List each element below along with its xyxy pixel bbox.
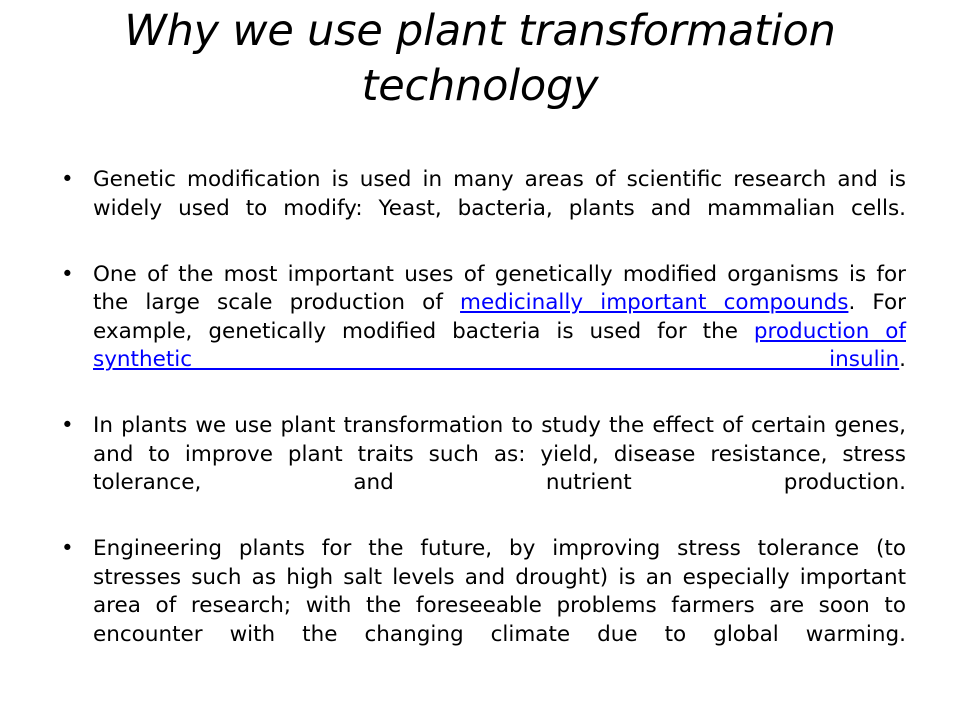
bullet-point-icon: • <box>61 261 79 290</box>
presentation-slide: Why we use plant transformation technolo… <box>0 0 960 720</box>
bullet-point-icon: • <box>61 412 79 441</box>
bullet-text-genetic-modification: Genetic modification is used in many are… <box>93 166 906 252</box>
slide-title-line-2: technology <box>362 61 599 111</box>
bullet-point-icon: • <box>61 535 79 564</box>
bullet-item-genetic-modification: • Genetic modification is used in many a… <box>56 166 906 252</box>
bullet-item-gm-organisms: • One of the most important uses of gene… <box>56 261 906 404</box>
bullet-text-plant-transformation: In plants we use plant transformation to… <box>93 412 906 526</box>
slide-body-content: • Genetic modification is used in many a… <box>56 166 906 678</box>
slide-title: Why we use plant transformation technolo… <box>60 4 900 114</box>
bullet-point-icon: • <box>61 166 79 195</box>
bullet-item-plant-transformation: • In plants we use plant transformation … <box>56 412 906 526</box>
bullet-text-gm-organisms: One of the most important uses of geneti… <box>93 261 906 404</box>
slide-title-line-1: Why we use plant transformation <box>124 6 835 56</box>
bullet-segment-text: . <box>899 347 906 372</box>
bullet-item-engineering-future: • Engineering plants for the future, by … <box>56 535 906 678</box>
bullet-text-engineering-future: Engineering plants for the future, by im… <box>93 535 906 678</box>
link-medicinally-important-compounds[interactable]: medicinally important compounds <box>460 290 848 315</box>
